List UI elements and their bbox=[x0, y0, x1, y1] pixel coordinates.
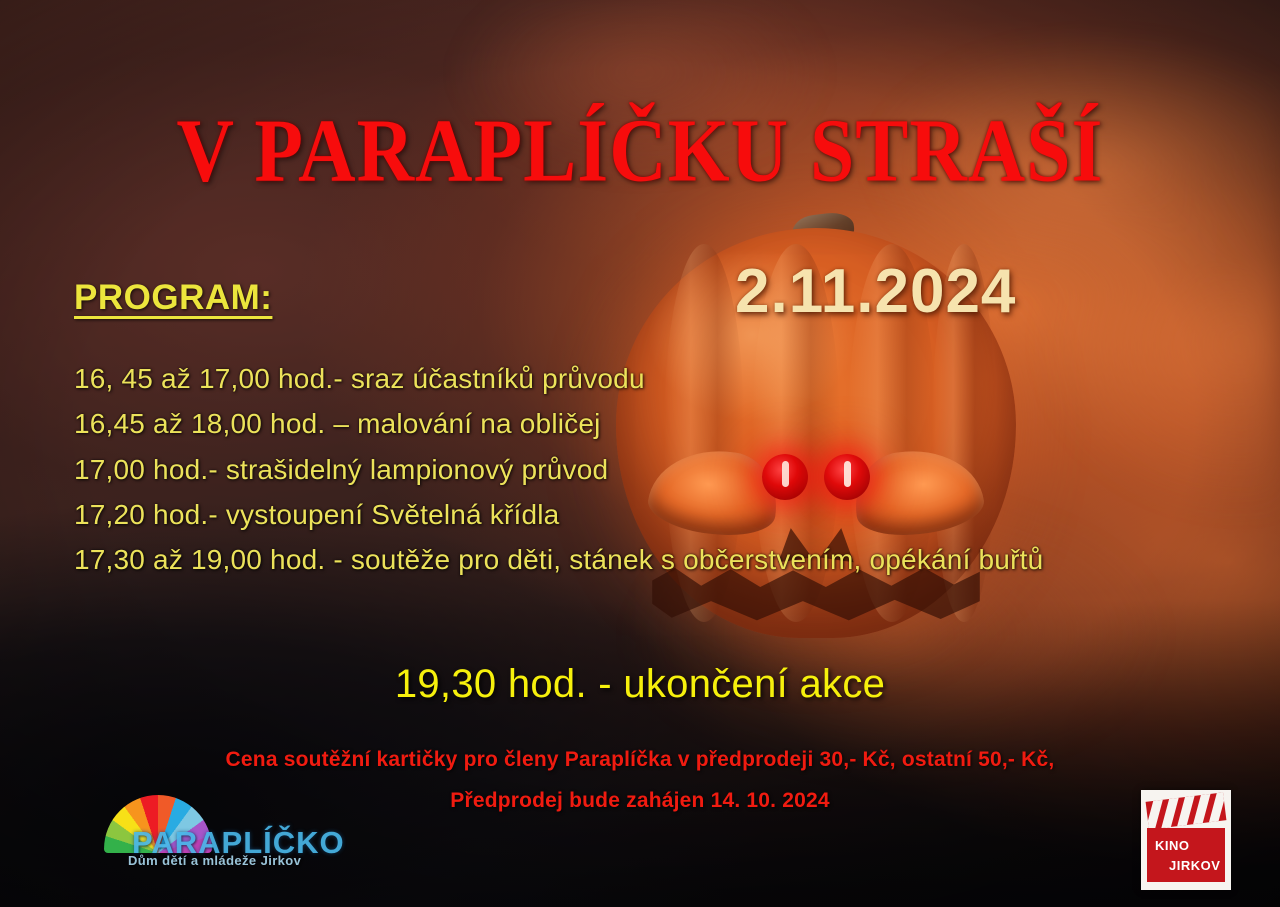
kino-logo-line1: KINO bbox=[1155, 838, 1190, 853]
clapperboard-body: KINO JIRKOV bbox=[1147, 828, 1225, 882]
kino-jirkov-logo: KINO JIRKOV bbox=[1141, 790, 1231, 890]
closing-time-text: 19,30 hod. - ukončení akce bbox=[0, 662, 1280, 707]
list-item: 16,45 až 18,00 hod. – malování na obliče… bbox=[74, 401, 1204, 446]
price-note-line: Cena soutěžní kartičky pro členy Paraplí… bbox=[0, 740, 1280, 781]
event-date: 2.11.2024 bbox=[735, 256, 1016, 327]
halloween-event-poster: V PARAPLÍČKU STRAŠÍ 2.11.2024 PROGRAM: 1… bbox=[0, 0, 1280, 907]
paraplicko-logo: PARAPLÍČKO Dům dětí a mládeže Jirkov bbox=[104, 795, 334, 895]
program-heading: PROGRAM: bbox=[74, 278, 272, 318]
list-item: 16, 45 až 17,00 hod.- sraz účastníků prů… bbox=[74, 356, 1204, 401]
program-schedule-list: 16, 45 až 17,00 hod.- sraz účastníků prů… bbox=[74, 356, 1204, 583]
clapperboard-icon bbox=[1146, 792, 1227, 829]
pumpkin-stem-icon bbox=[790, 210, 855, 247]
list-item: 17,30 až 19,00 hod. - soutěže pro děti, … bbox=[74, 537, 1204, 582]
list-item: 17,20 hod.- vystoupení Světelná křídla bbox=[74, 492, 1204, 537]
list-item: 17,00 hod.- strašidelný lampionový průvo… bbox=[74, 447, 1204, 492]
kino-logo-line2: JIRKOV bbox=[1169, 858, 1220, 873]
paraplicko-logo-subtitle: Dům dětí a mládeže Jirkov bbox=[128, 853, 301, 868]
page-title: V PARAPLÍČKU STRAŠÍ bbox=[0, 98, 1280, 202]
